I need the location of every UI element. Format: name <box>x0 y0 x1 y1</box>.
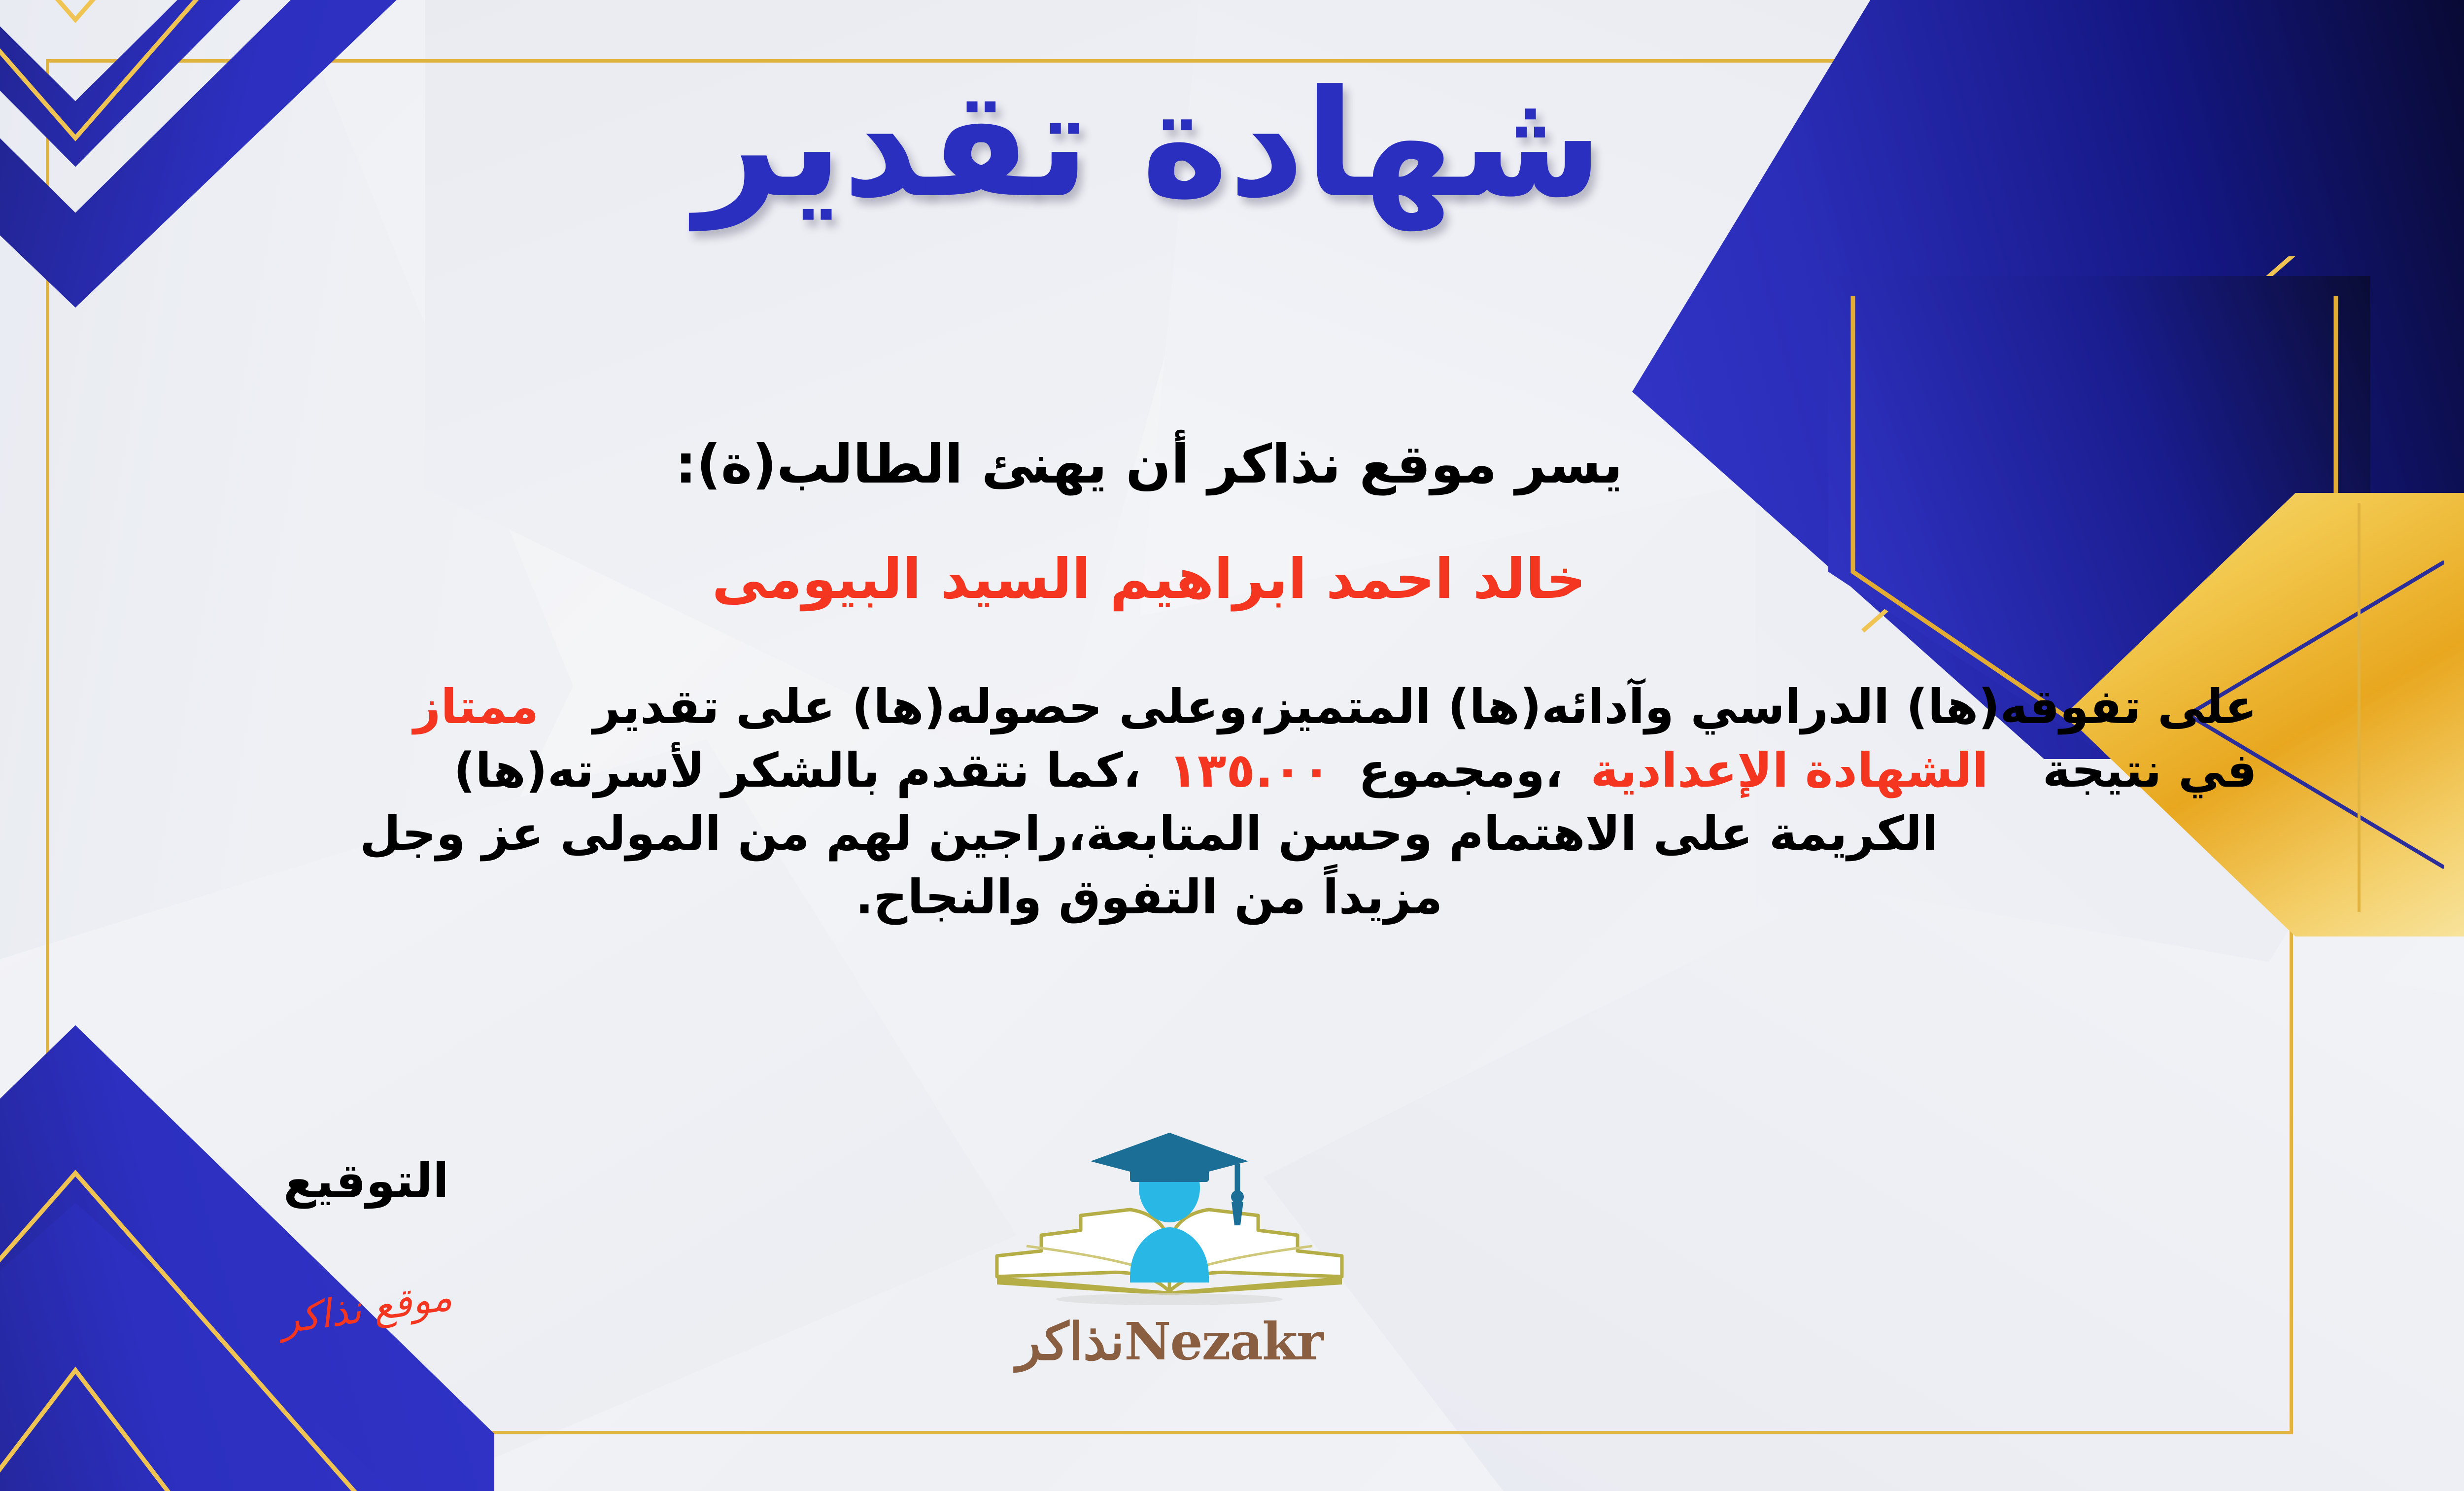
total-score-value: ١٣٥.٠٠ <box>1168 743 1331 798</box>
certificate-content: شهادة تقدير يسر موقع نذاكر أن يهنئ الطال… <box>0 0 2464 1491</box>
certificate-body: على تفوقه(ها) الدراسي وآدائه(ها) المتميز… <box>41 675 2257 929</box>
student-name: خالد احمد ابراهيم السيد البيومى <box>0 547 2464 611</box>
body-line-2-suffix: ،كما نتقدم بالشكر لأسرته(ها) <box>453 743 1141 798</box>
body-line-1: على تفوقه(ها) الدراسي وآدائه(ها) المتميز… <box>41 675 2257 739</box>
body-line-2-mid: ،ومجموع <box>1359 743 1563 798</box>
body-line-2: في نتيجةالشهادة الإعدادية،ومجموع١٣٥.٠٠،ك… <box>41 739 2257 802</box>
graduate-book-icon <box>967 1129 1371 1316</box>
brand-logo: Nezakrنذاكر <box>967 1129 1371 1372</box>
body-line-3: الكريمة على الاهتمام وحسن المتابعة،راجين… <box>41 802 2257 866</box>
body-line-1-text: على تفوقه(ها) الدراسي وآدائه(ها) المتميز… <box>593 679 2257 734</box>
body-line-2-prefix: في نتيجة <box>2043 743 2257 798</box>
certificate-page: شهادة تقدير يسر موقع نذاكر أن يهنئ الطال… <box>0 0 2464 1491</box>
intro-line: يسر موقع نذاكر أن يهنئ الطالب(ة): <box>0 434 2464 495</box>
grade-value: ممتاز <box>413 679 539 734</box>
body-line-4: مزيداً من التفوق والنجاح. <box>41 866 2257 929</box>
exam-name-value: الشهادة الإعدادية <box>1590 743 1988 798</box>
logo-wordmark: Nezakrنذاكر <box>967 1311 1371 1372</box>
certificate-title: شهادة تقدير <box>0 59 2464 229</box>
signature-label: التوقيع <box>248 1153 484 1209</box>
signature-script: موقع نذاكر <box>241 1270 491 1348</box>
